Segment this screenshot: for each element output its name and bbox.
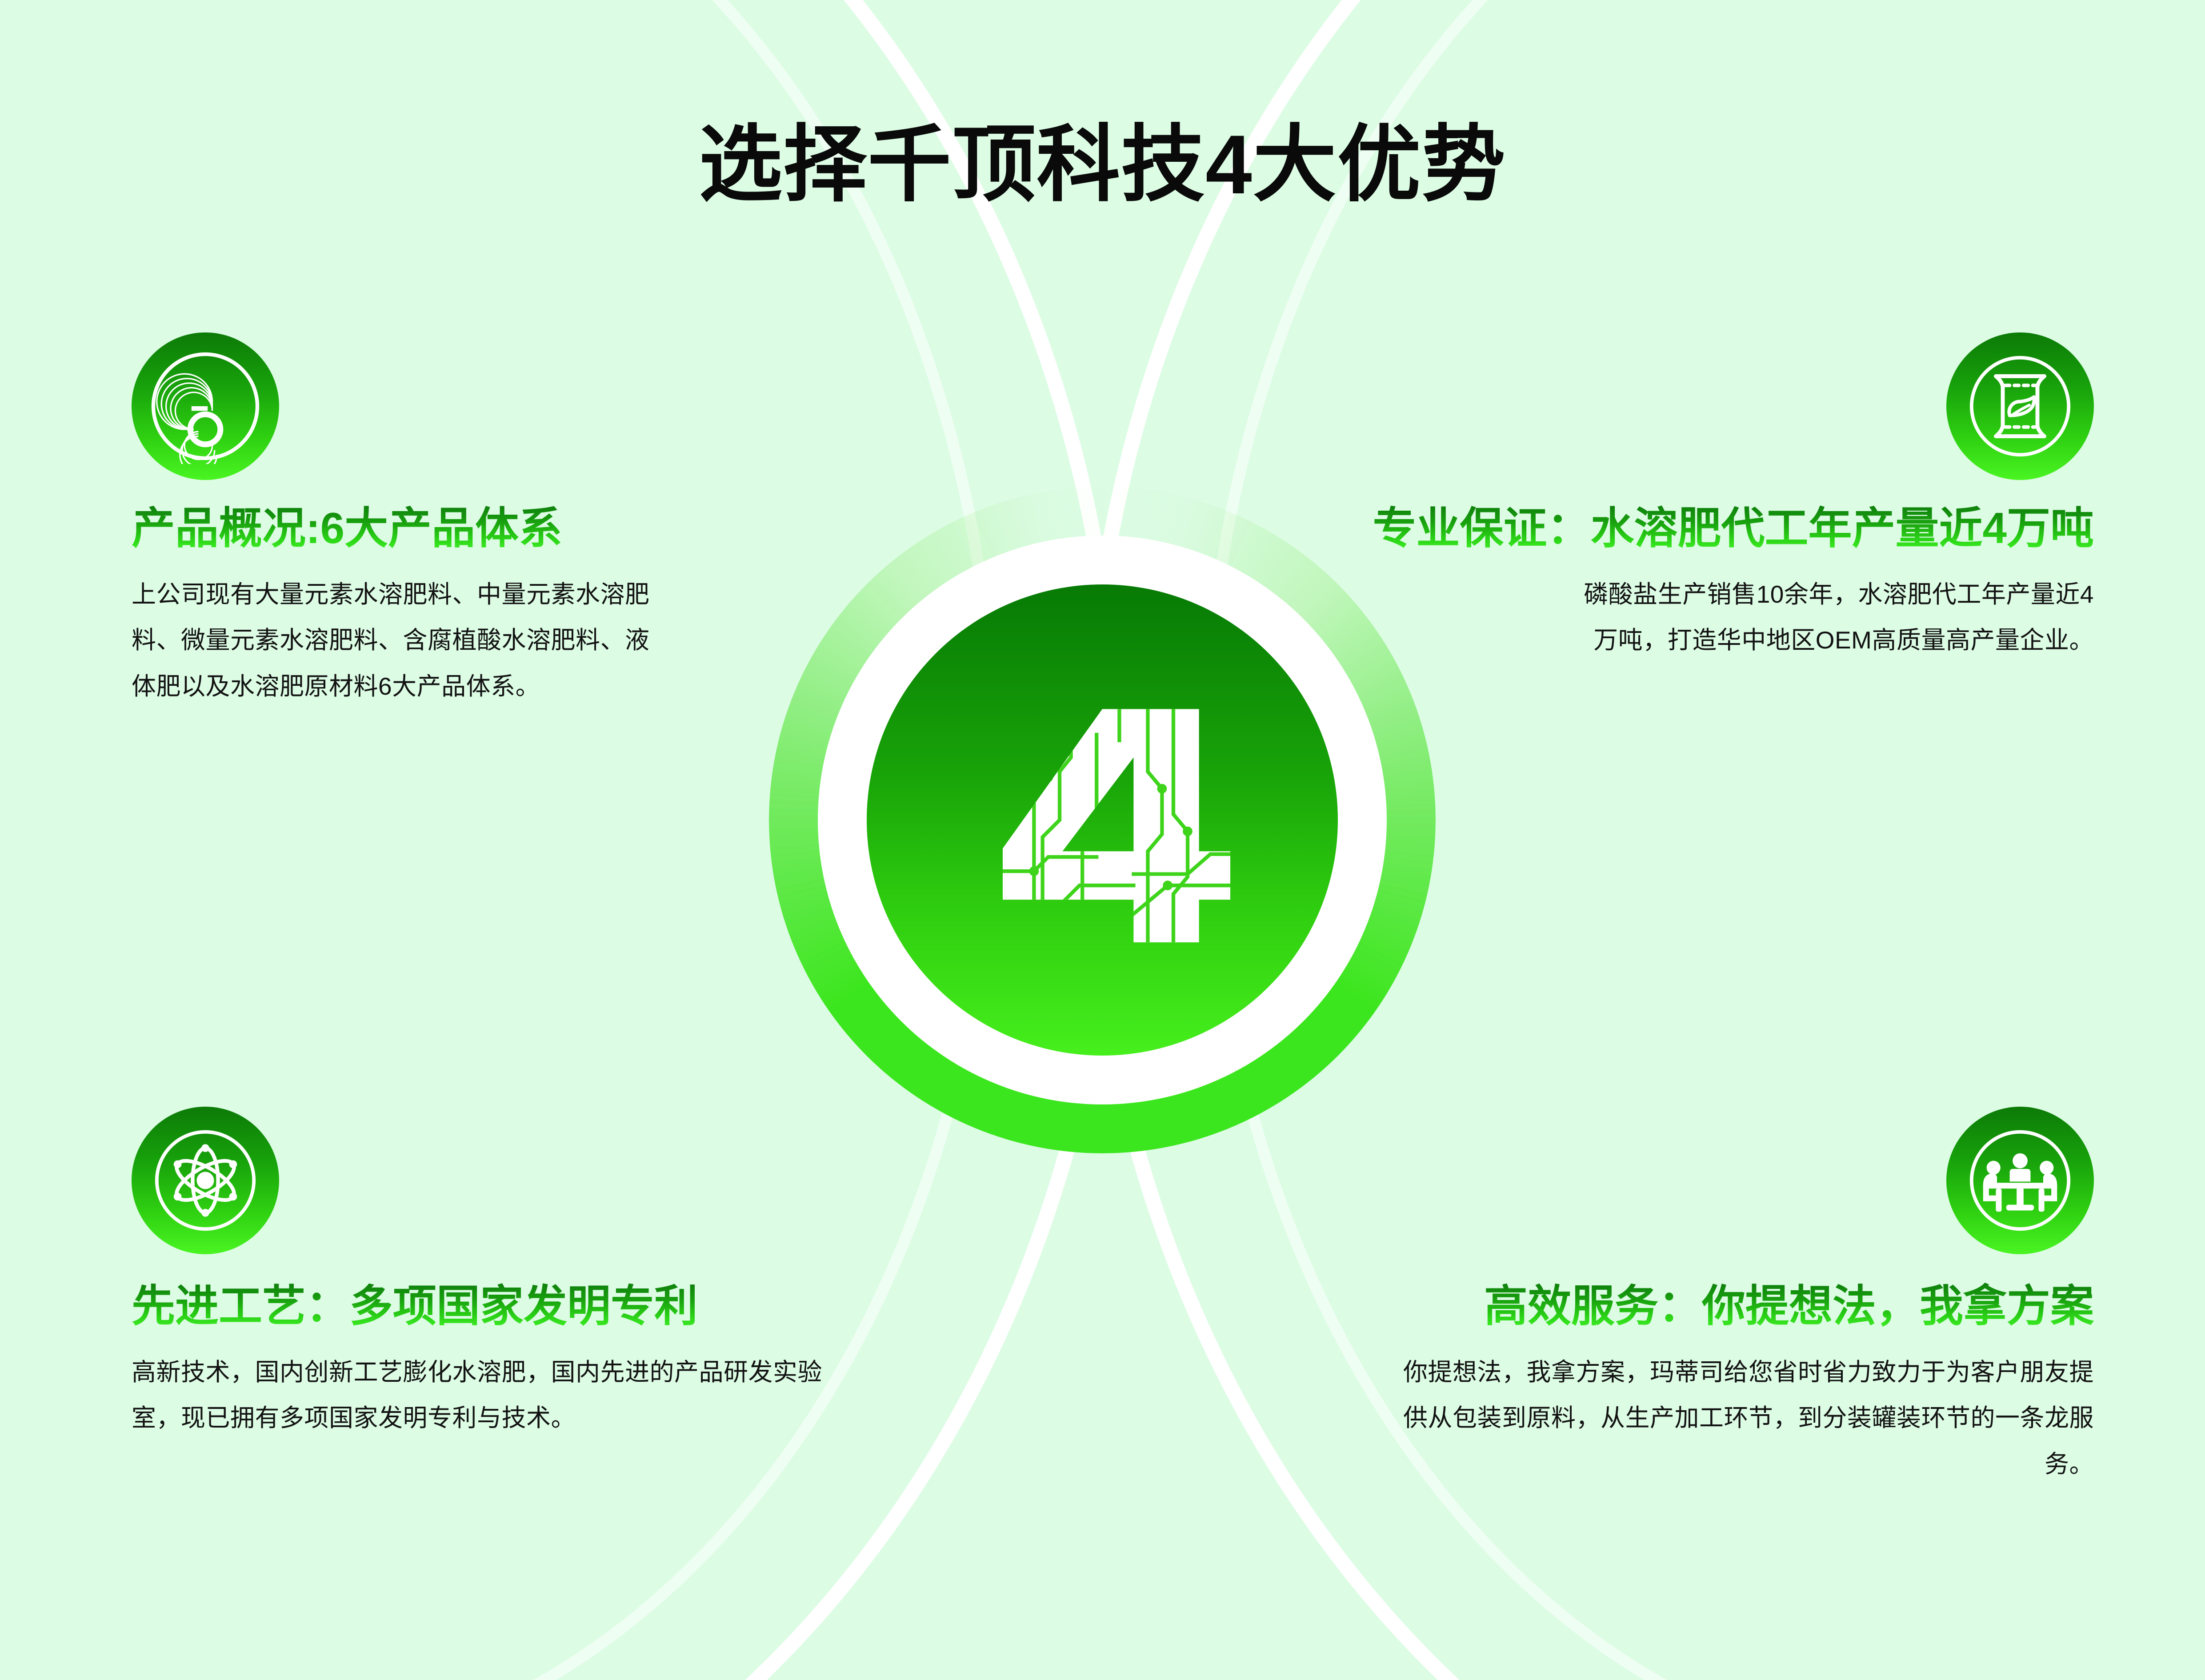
- number-four-circuit-icon: [960, 678, 1245, 962]
- atom-glyph: [148, 1123, 263, 1238]
- page-title: 选择千顶科技4大优势: [0, 97, 2205, 218]
- quadrant-body: 你提想法，我拿方案，玛蒂司给您省时省力致力于为客户朋友提供从包装到原料，从生产加…: [1392, 1349, 2094, 1487]
- meeting-team-icon: [1946, 1107, 2094, 1254]
- number-six-ripple-icon: [132, 332, 279, 480]
- meeting-team-glyph: [1962, 1123, 2078, 1238]
- atom-icon: [132, 1107, 279, 1254]
- fertilizer-bag-glyph: [1962, 348, 2078, 464]
- infographic-canvas: 选择千顶科技4大优势: [0, 0, 2205, 1680]
- quadrant-body: 上公司现有大量元素水溶肥料、中量元素水溶肥料、微量元素水溶肥料、含腐植酸水溶肥料…: [132, 572, 672, 709]
- fertilizer-bag-icon: [1946, 332, 2094, 480]
- quadrant-body: 磷酸盐生产销售10余年，水溶肥代工年产量近4万吨，打造华中地区OEM高质量高产量…: [1578, 572, 2094, 664]
- quadrant-heading: 专业保证：水溶肥代工年产量近4万吨: [1254, 504, 2094, 553]
- quadrant-heading: 高效服务：你提想法，我拿方案: [1347, 1282, 2094, 1331]
- quadrant-heading: 产品概况:6大产品体系: [132, 504, 705, 553]
- quadrant-heading: 先进工艺：多项国家发明专利: [132, 1282, 887, 1331]
- number-six-ripple-glyph: [148, 348, 263, 464]
- quadrant-advanced-process: 先进工艺：多项国家发明专利 高新技术，国内创新工艺膨化水溶肥，国内先进的产品研发…: [132, 1107, 887, 1441]
- quadrant-efficient-service: 高效服务：你提想法，我拿方案 你提想法，我拿方案，玛蒂司给您省时省力致力于为客户…: [1347, 1107, 2094, 1487]
- quadrant-professional-guarantee: 专业保证：水溶肥代工年产量近4万吨 磷酸盐生产销售10余年，水溶肥代工年产量近4…: [1254, 332, 2094, 664]
- quadrant-body: 高新技术，国内创新工艺膨化水溶肥，国内先进的产品研发实验室，现已拥有多项国家发明…: [132, 1349, 865, 1441]
- quadrant-product-overview: 产品概况:6大产品体系 上公司现有大量元素水溶肥料、中量元素水溶肥料、微量元素水…: [132, 332, 705, 709]
